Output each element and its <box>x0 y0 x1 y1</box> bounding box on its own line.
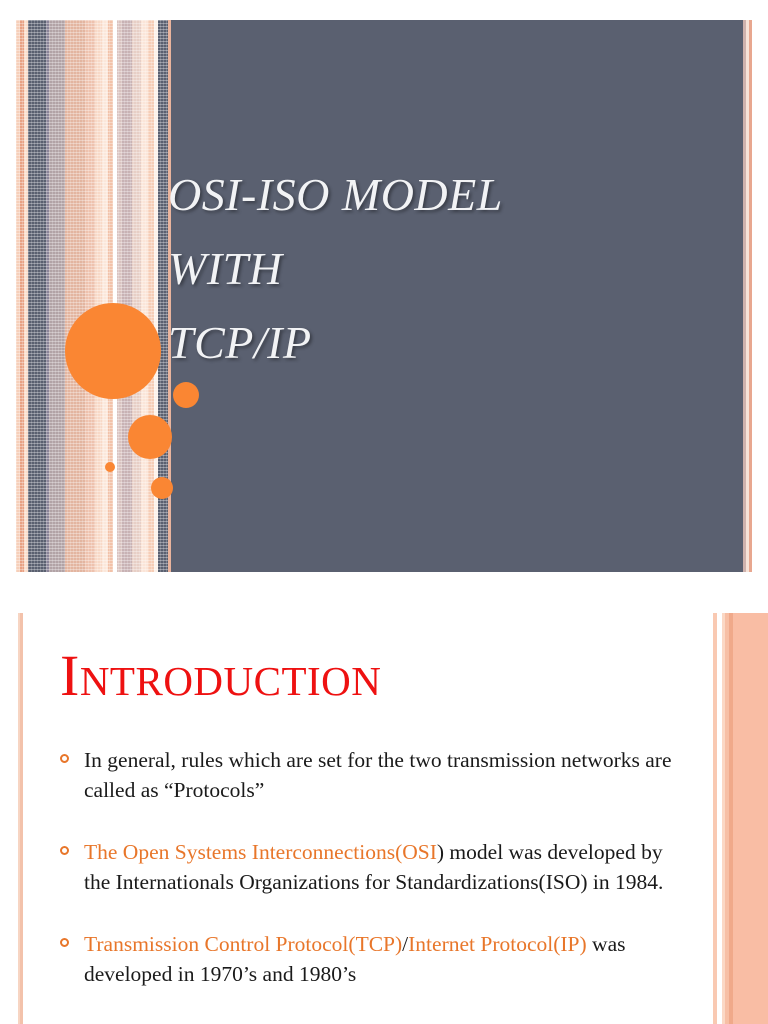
bullet-text: Transmission Control Protocol(TCP)/Inter… <box>84 932 625 986</box>
stripe-column <box>65 20 85 572</box>
stripe-column <box>49 20 65 572</box>
accent-band-right-wide <box>733 613 768 1024</box>
stripe-column <box>132 20 141 572</box>
medium-circle <box>128 415 172 459</box>
list-item: In general, rules which are set for the … <box>58 745 678 805</box>
bullet-text: In general, rules which are set for the … <box>84 748 671 802</box>
decorative-stripe-band <box>16 20 168 572</box>
large-circle <box>65 303 161 399</box>
stripe-column <box>85 20 95 572</box>
tiny-circle <box>105 462 115 472</box>
bullet-circle-icon <box>60 938 69 947</box>
stripe-column <box>95 20 102 572</box>
stripe-column <box>122 20 132 572</box>
introduction-slide: Introduction In general, rules which are… <box>0 613 768 1024</box>
text-run: Transmission Control Protocol(TCP) <box>84 932 402 956</box>
text-run: The Open Systems Interconnections(OSI <box>84 840 437 864</box>
small-circle-lower <box>151 477 173 499</box>
small-circle <box>173 382 199 408</box>
page-title: Introduction <box>60 645 381 707</box>
slide-title: OSI-ISO MODEL WITH TCP/IP <box>168 158 728 380</box>
stripe-column <box>28 20 46 572</box>
accent-line-right-3 <box>749 20 752 572</box>
bullet-circle-icon <box>60 754 69 763</box>
bullet-text: The Open Systems Interconnections(OSI) m… <box>84 840 663 894</box>
bullet-circle-icon <box>60 846 69 855</box>
text-run: Internet Protocol(IP) <box>408 932 587 956</box>
bullet-list: In general, rules which are set for the … <box>58 745 678 1021</box>
title-slide: OSI-ISO MODEL WITH TCP/IP <box>16 20 752 572</box>
slide-document: OSI-ISO MODEL WITH TCP/IP Introduction I… <box>0 0 768 1024</box>
list-item: The Open Systems Interconnections(OSI) m… <box>58 837 678 897</box>
accent-line-left-inner <box>20 613 23 1024</box>
list-item: Transmission Control Protocol(TCP)/Inter… <box>58 929 678 989</box>
text-run: In general, rules which are set for the … <box>84 748 671 802</box>
stripe-column <box>141 20 148 572</box>
